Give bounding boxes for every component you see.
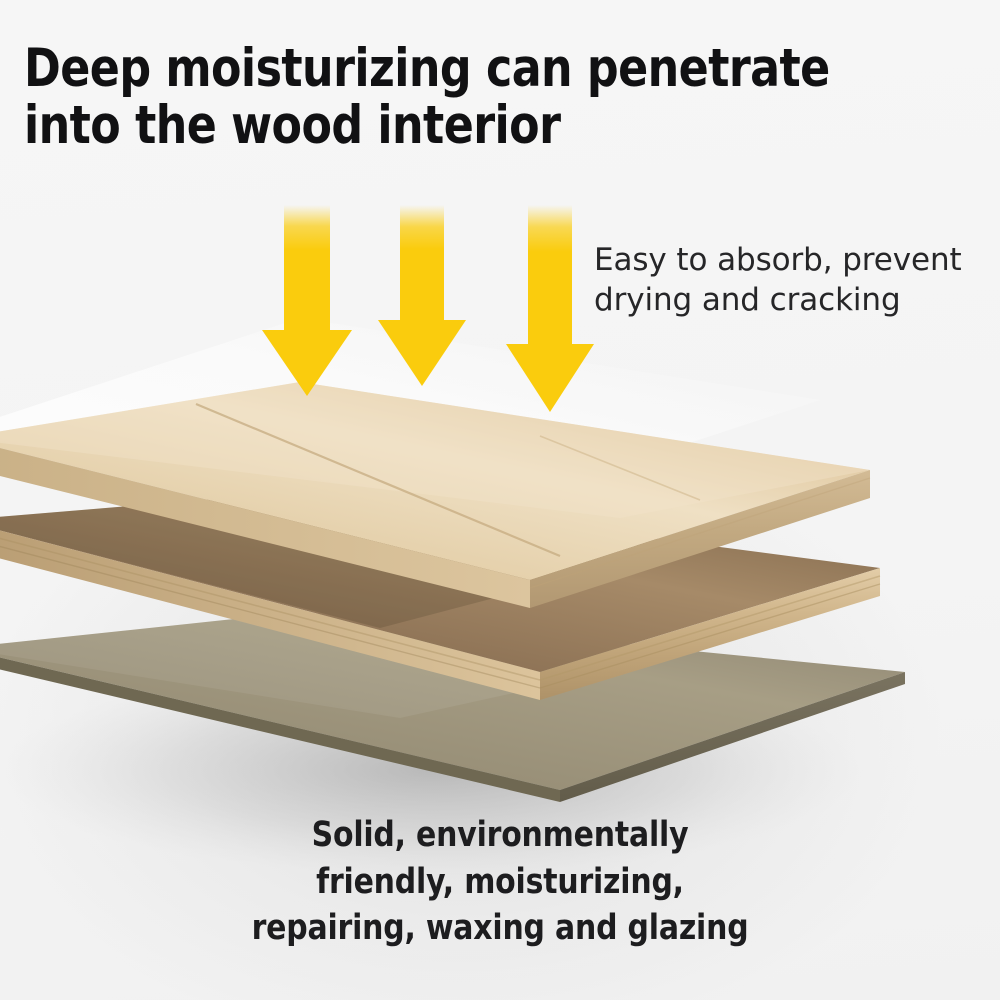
page-title: Deep moisturizing can penetrate into the…	[24, 40, 861, 154]
absorption-caption: Easy to absorb, prevent drying and crack…	[594, 240, 994, 321]
features-caption: Solid, environmentally friendly, moistur…	[25, 812, 975, 952]
infographic-canvas: Deep moisturizing can penetrate into the…	[0, 0, 1000, 1000]
